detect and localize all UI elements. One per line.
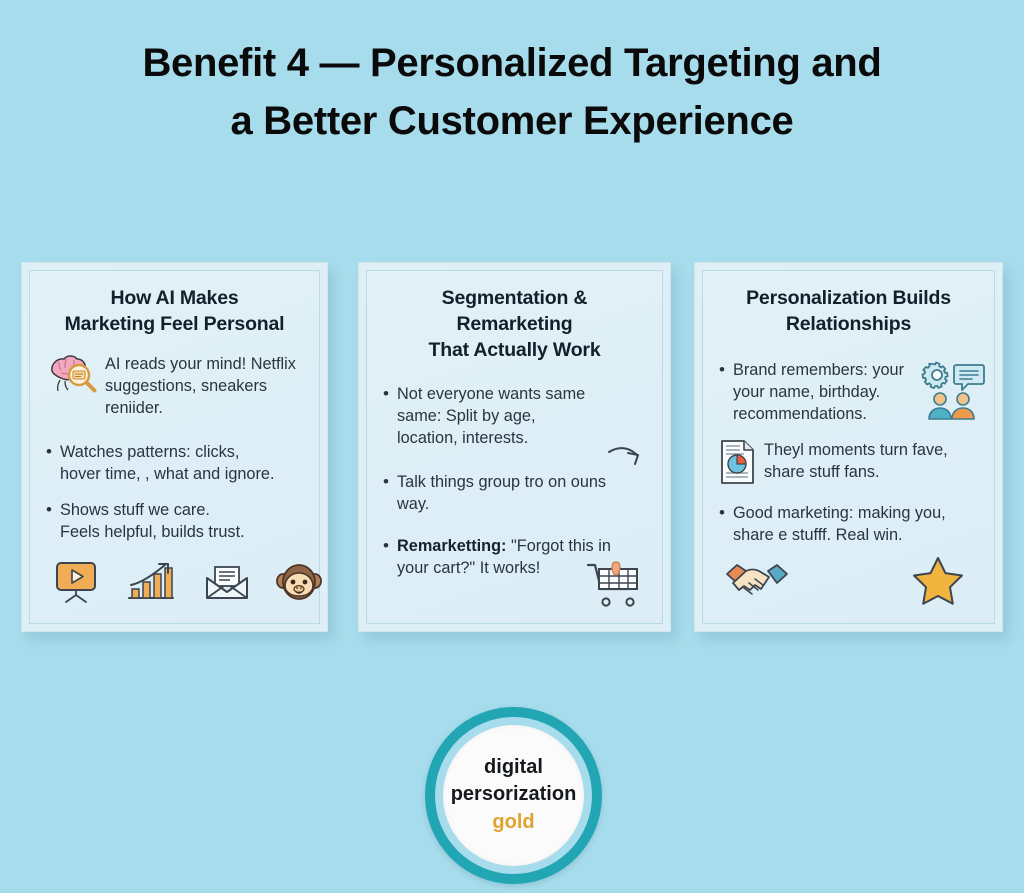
card-inner: Personalization Builds Relationships • B…: [702, 270, 995, 624]
slide-canvas: Benefit 4 — Personalized Targeting and a…: [0, 0, 1024, 893]
page-title-line-1: Benefit 4 — Personalized Targeting and: [0, 34, 1024, 92]
badge-line-3: gold: [492, 808, 534, 837]
card-icon-strip: [383, 560, 642, 613]
presentation-play-icon: [54, 560, 100, 609]
card-title-line-1: Personalization Builds: [719, 285, 978, 311]
icon-text-row: AI reads your mind! Netflix suggestions,…: [46, 353, 303, 419]
bullet-dot: •: [46, 441, 60, 485]
card-title-line-2: Relationships: [719, 311, 978, 337]
page-title: Benefit 4 — Personalized Targeting and a…: [0, 34, 1024, 150]
list-item-text: Shows stuff we care. Feels helpful, buil…: [60, 499, 303, 543]
document-pie-chart-icon: [719, 439, 757, 490]
card-inner: Segmentation & Remarketing That Actually…: [366, 270, 663, 624]
brain-magnifier-icon: [46, 353, 98, 404]
badge-seal: digital persorization gold: [425, 707, 602, 884]
list-item-text: Talk things group tro on ouns way.: [397, 471, 646, 515]
list-item: • Watches patterns: clicks, hover time, …: [46, 441, 303, 485]
list-item-text: Not everyone wants same same: Split by a…: [397, 383, 646, 449]
bullet-dot: •: [719, 359, 733, 425]
icon-text-body: Theyl moments turn fave, share stuff fan…: [764, 439, 978, 483]
badge-line-1: digital: [484, 754, 543, 781]
page-title-line-2: a Better Customer Experience: [0, 92, 1024, 150]
card-icon-strip: [54, 560, 303, 609]
card-title-line-1: Segmentation &: [383, 285, 646, 311]
card-title: Personalization Builds Relationships: [719, 285, 978, 337]
bullet-dot: •: [383, 471, 397, 515]
card-title-line-2: Remarketing: [383, 311, 646, 337]
star-icon: [912, 556, 964, 611]
badge-face: digital persorization gold: [443, 725, 584, 866]
remarketing-label: Remarketting:: [397, 537, 506, 555]
bullet-dot: •: [719, 502, 733, 546]
card-inner: How AI Makes Marketing Feel Personal: [29, 270, 320, 624]
card-how-ai-makes-marketing-feel-personal: How AI Makes Marketing Feel Personal: [21, 262, 328, 632]
bullet-dot: •: [46, 499, 60, 543]
bullet-dot: •: [383, 383, 397, 449]
list-item: • Talk things group tro on ouns way.: [383, 471, 646, 515]
gear-chat-people-icon: [916, 361, 986, 426]
curved-arrow-icon: [606, 443, 648, 474]
card-personalization-builds-relationships: Personalization Builds Relationships • B…: [694, 262, 1003, 632]
bar-chart-growth-icon: [126, 560, 178, 609]
card-title-line-3: That Actually Work: [383, 337, 646, 363]
monkey-face-icon: [276, 560, 322, 609]
card-icon-strip: [725, 556, 964, 611]
icon-text-row: Theyl moments turn fave, share stuff fan…: [719, 439, 978, 490]
card-title-line-1: How AI Makes: [46, 285, 303, 311]
badge-line-2: persorization: [451, 781, 577, 808]
handshake-icon: [725, 560, 789, 611]
badge-ring: digital persorization gold: [435, 717, 592, 874]
list-item-text: Watches patterns: clicks, hover time, , …: [60, 441, 303, 485]
remarketing-quote: "Forgot this in: [506, 537, 610, 555]
shopping-cart-icon: [586, 560, 642, 613]
card-title-line-2: Marketing Feel Personal: [46, 311, 303, 337]
list-item: • Shows stuff we care. Feels helpful, bu…: [46, 499, 303, 543]
list-item: • Not everyone wants same same: Split by…: [383, 383, 646, 449]
card-title: Segmentation & Remarketing That Actually…: [383, 285, 646, 363]
card-segmentation-and-remarketing: Segmentation & Remarketing That Actually…: [358, 262, 671, 632]
list-item: • Good marketing: making you, share e st…: [719, 502, 978, 546]
card-title: How AI Makes Marketing Feel Personal: [46, 285, 303, 337]
open-envelope-icon: [204, 562, 250, 609]
list-item-text: Good marketing: making you, share e stuf…: [733, 502, 978, 546]
icon-text-body: AI reads your mind! Netflix suggestions,…: [105, 353, 303, 419]
list-item: • Brand remembers: your your name, birth…: [719, 359, 949, 425]
